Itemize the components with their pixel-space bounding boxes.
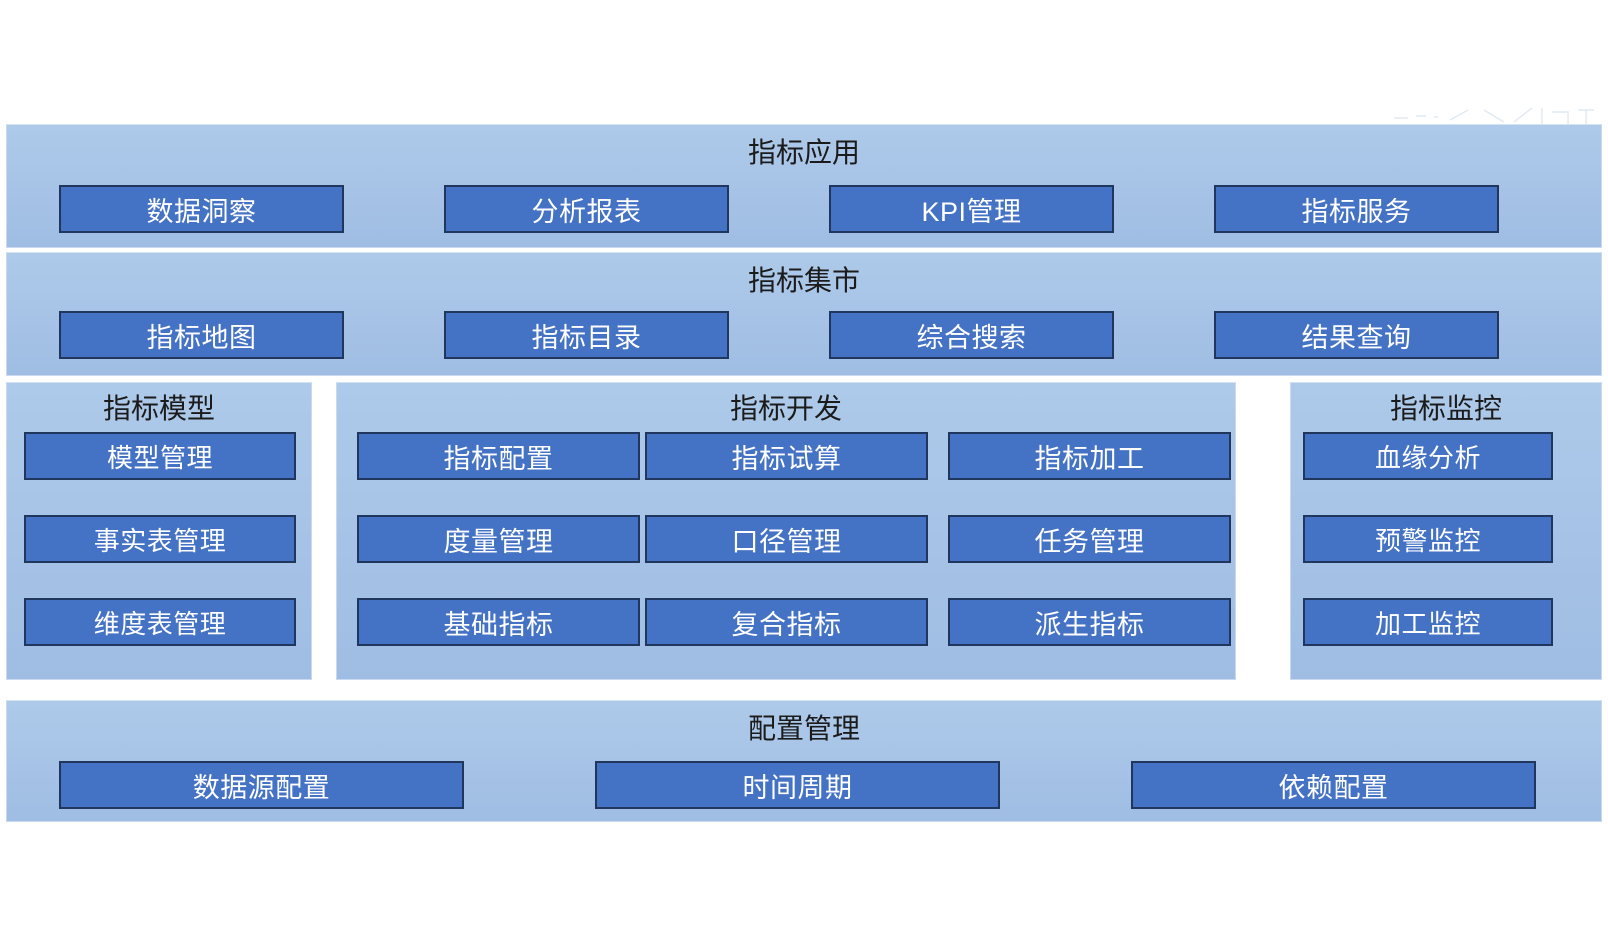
button-lineage-analysis[interactable]: 血缘分析 [1303,432,1553,480]
layer-indicator-development: 指标开发 指标配置 指标试算 指标加工 度量管理 口径管理 任务管理 基础指标 … [336,382,1236,680]
button-time-period[interactable]: 时间周期 [595,761,1000,809]
button-basic-indicator[interactable]: 基础指标 [357,598,640,646]
button-data-insight[interactable]: 数据洞察 [59,185,344,233]
button-task-management[interactable]: 任务管理 [948,515,1231,563]
layer-indicator-market: 指标集市 指标地图 指标目录 综合搜索 结果查询 [6,252,1602,376]
diagram-canvas: 指标应用 数据洞察 分析报表 KPI管理 指标服务 指标集市 指标地图 指标目录… [0,0,1608,940]
button-indicator-trial-calculation[interactable]: 指标试算 [645,432,928,480]
button-alert-monitoring[interactable]: 预警监控 [1303,515,1553,563]
button-caliber-management[interactable]: 口径管理 [645,515,928,563]
layer-title-indicator-development: 指标开发 [337,395,1235,423]
layer-title-indicator-model: 指标模型 [7,395,311,423]
button-kpi-management[interactable]: KPI管理 [829,185,1114,233]
button-analysis-report[interactable]: 分析报表 [444,185,729,233]
button-dimension-table-management[interactable]: 维度表管理 [24,598,296,646]
layer-indicator-model: 指标模型 模型管理 事实表管理 维度表管理 [6,382,312,680]
button-indicator-service[interactable]: 指标服务 [1214,185,1499,233]
layer-title-indicator-market: 指标集市 [7,267,1601,295]
button-result-query[interactable]: 结果查询 [1214,311,1499,359]
button-indicator-processing[interactable]: 指标加工 [948,432,1231,480]
button-indicator-map[interactable]: 指标地图 [59,311,344,359]
layer-title-indicator-application: 指标应用 [7,139,1601,167]
button-datasource-config[interactable]: 数据源配置 [59,761,464,809]
layer-indicator-monitor: 指标监控 血缘分析 预警监控 加工监控 [1290,382,1602,680]
button-processing-monitoring[interactable]: 加工监控 [1303,598,1553,646]
layer-config-management: 配置管理 数据源配置 时间周期 依赖配置 [6,700,1602,822]
layer-indicator-application: 指标应用 数据洞察 分析报表 KPI管理 指标服务 [6,124,1602,248]
button-comprehensive-search[interactable]: 综合搜索 [829,311,1114,359]
button-dependency-config[interactable]: 依赖配置 [1131,761,1536,809]
button-indicator-config[interactable]: 指标配置 [357,432,640,480]
layer-title-config-management: 配置管理 [7,715,1601,743]
button-derived-indicator[interactable]: 派生指标 [948,598,1231,646]
layer-title-indicator-monitor: 指标监控 [1291,395,1601,423]
button-model-management[interactable]: 模型管理 [24,432,296,480]
button-fact-table-management[interactable]: 事实表管理 [24,515,296,563]
button-composite-indicator[interactable]: 复合指标 [645,598,928,646]
button-indicator-catalog[interactable]: 指标目录 [444,311,729,359]
button-measure-management[interactable]: 度量管理 [357,515,640,563]
